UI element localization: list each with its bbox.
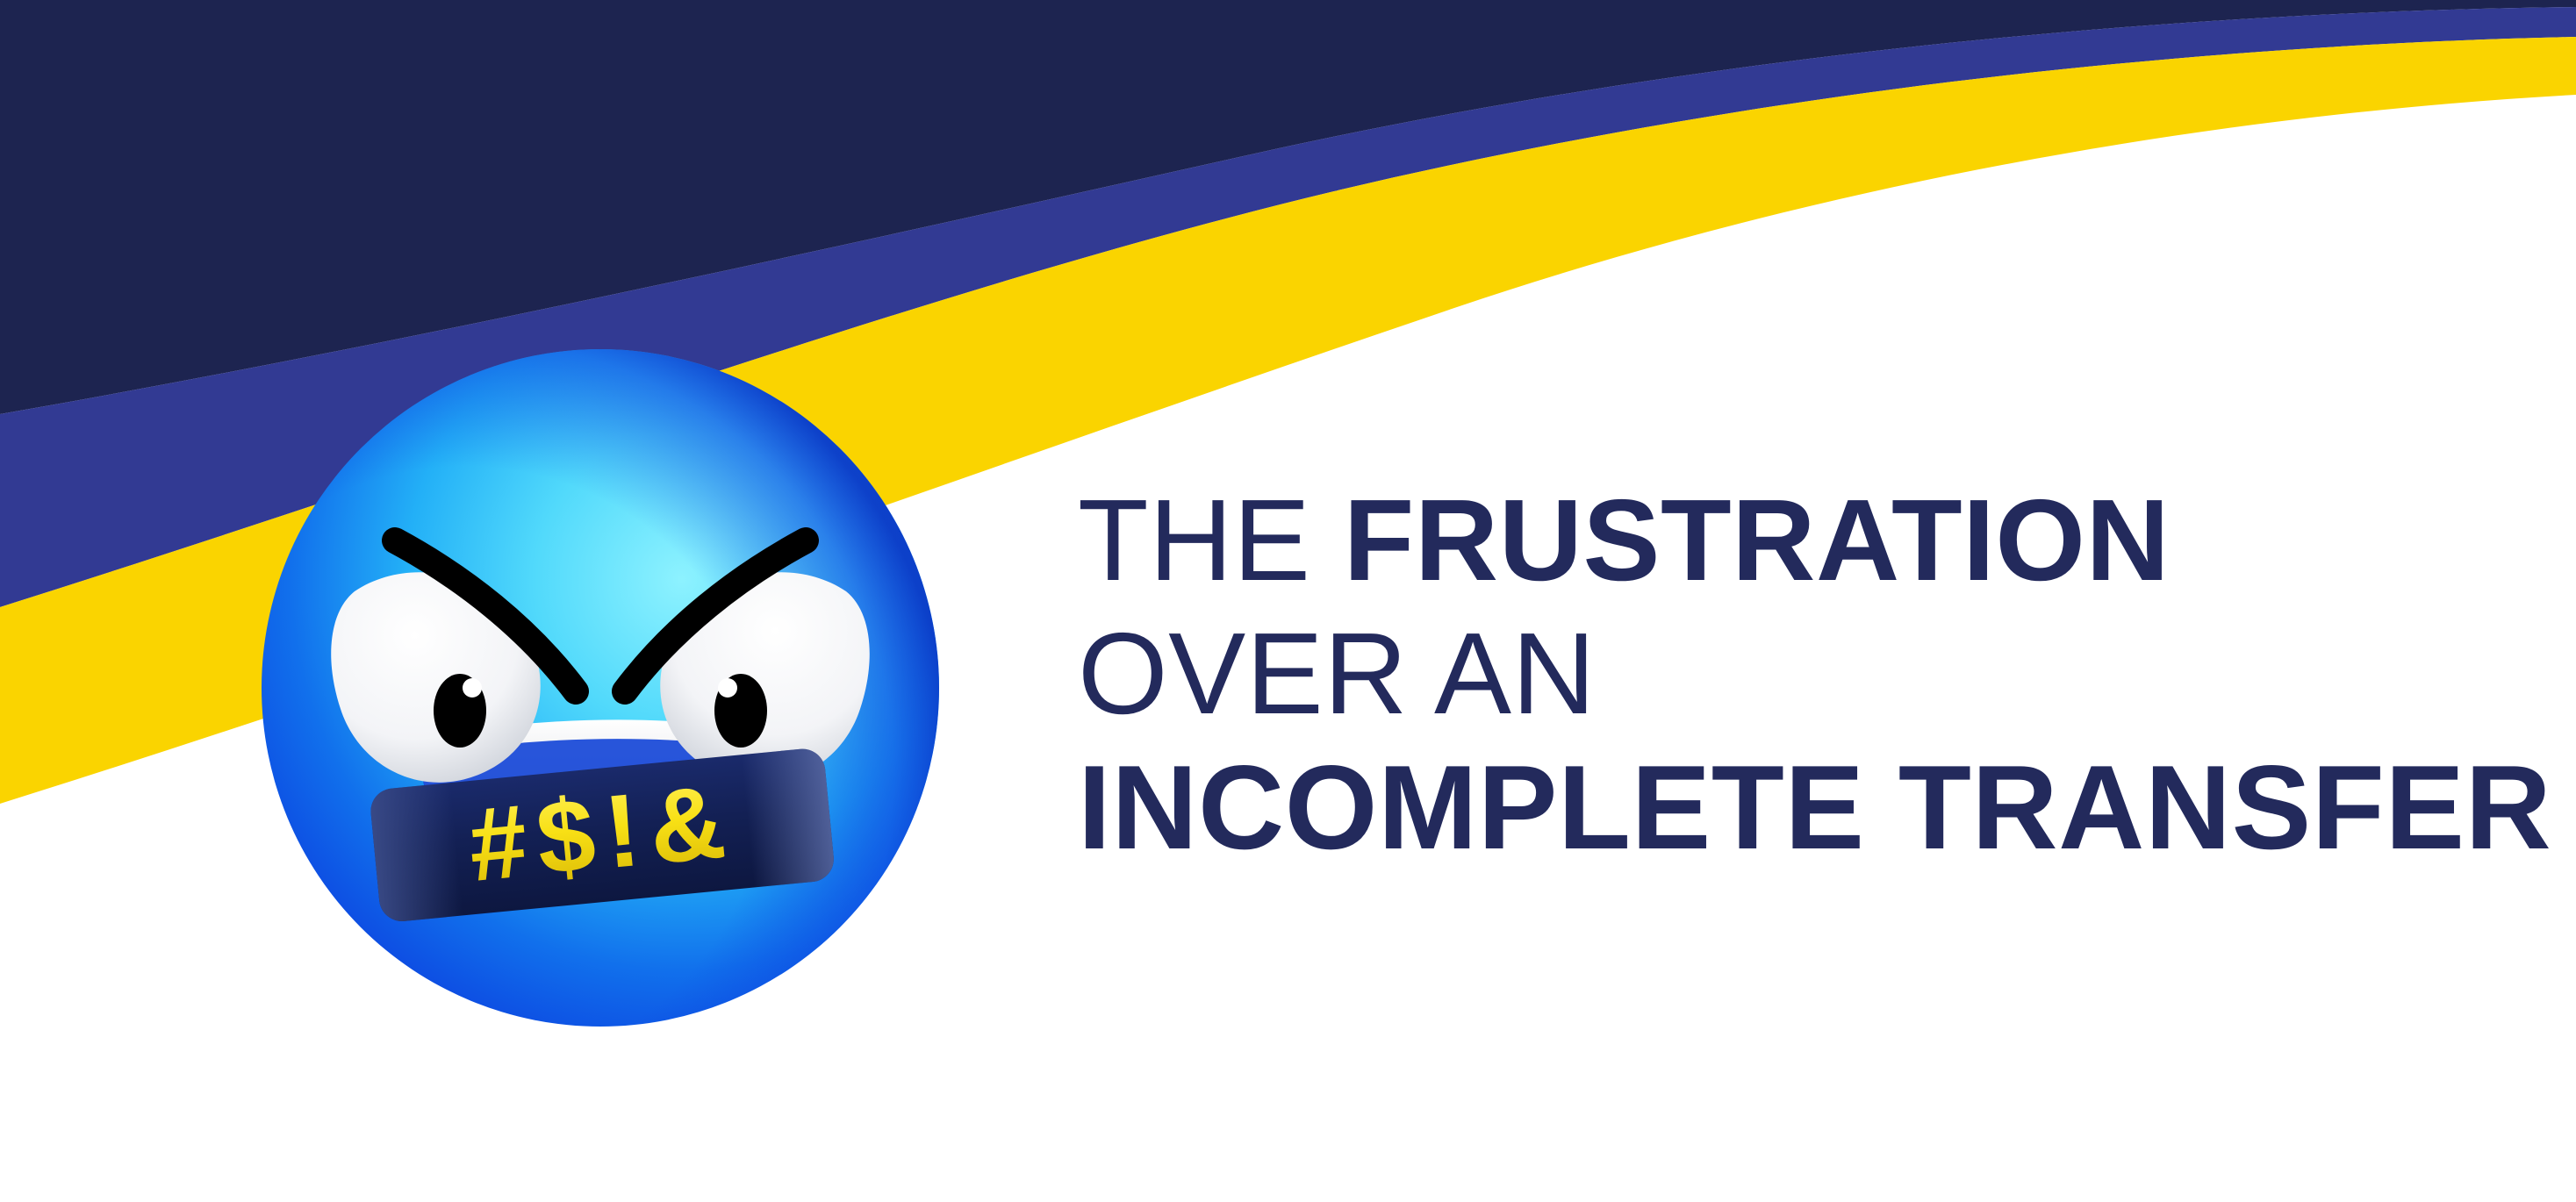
headline-line-1-bold: FRUSTRATION	[1344, 476, 2171, 605]
emoji-face: #$!&	[262, 349, 939, 1027]
promo-banner: #$!& THE FRUSTRATION OVER AN INCOMPLETE …	[0, 0, 2576, 1202]
headline-line-1: THE FRUSTRATION	[1078, 474, 2535, 607]
headline-line-1-light: THE	[1078, 476, 1344, 605]
left-pupil-highlight	[463, 678, 482, 698]
headline-block: THE FRUSTRATION OVER AN INCOMPLETE TRANS…	[1078, 474, 2535, 874]
headline-line-3: INCOMPLETE TRANSFER	[1078, 741, 2535, 874]
headline-line-2-light: OVER AN	[1078, 609, 1596, 738]
headline-line-3-bold: INCOMPLETE TRANSFER	[1078, 741, 2551, 874]
headline-line-2: OVER AN	[1078, 607, 2535, 741]
right-pupil-highlight	[718, 678, 737, 698]
